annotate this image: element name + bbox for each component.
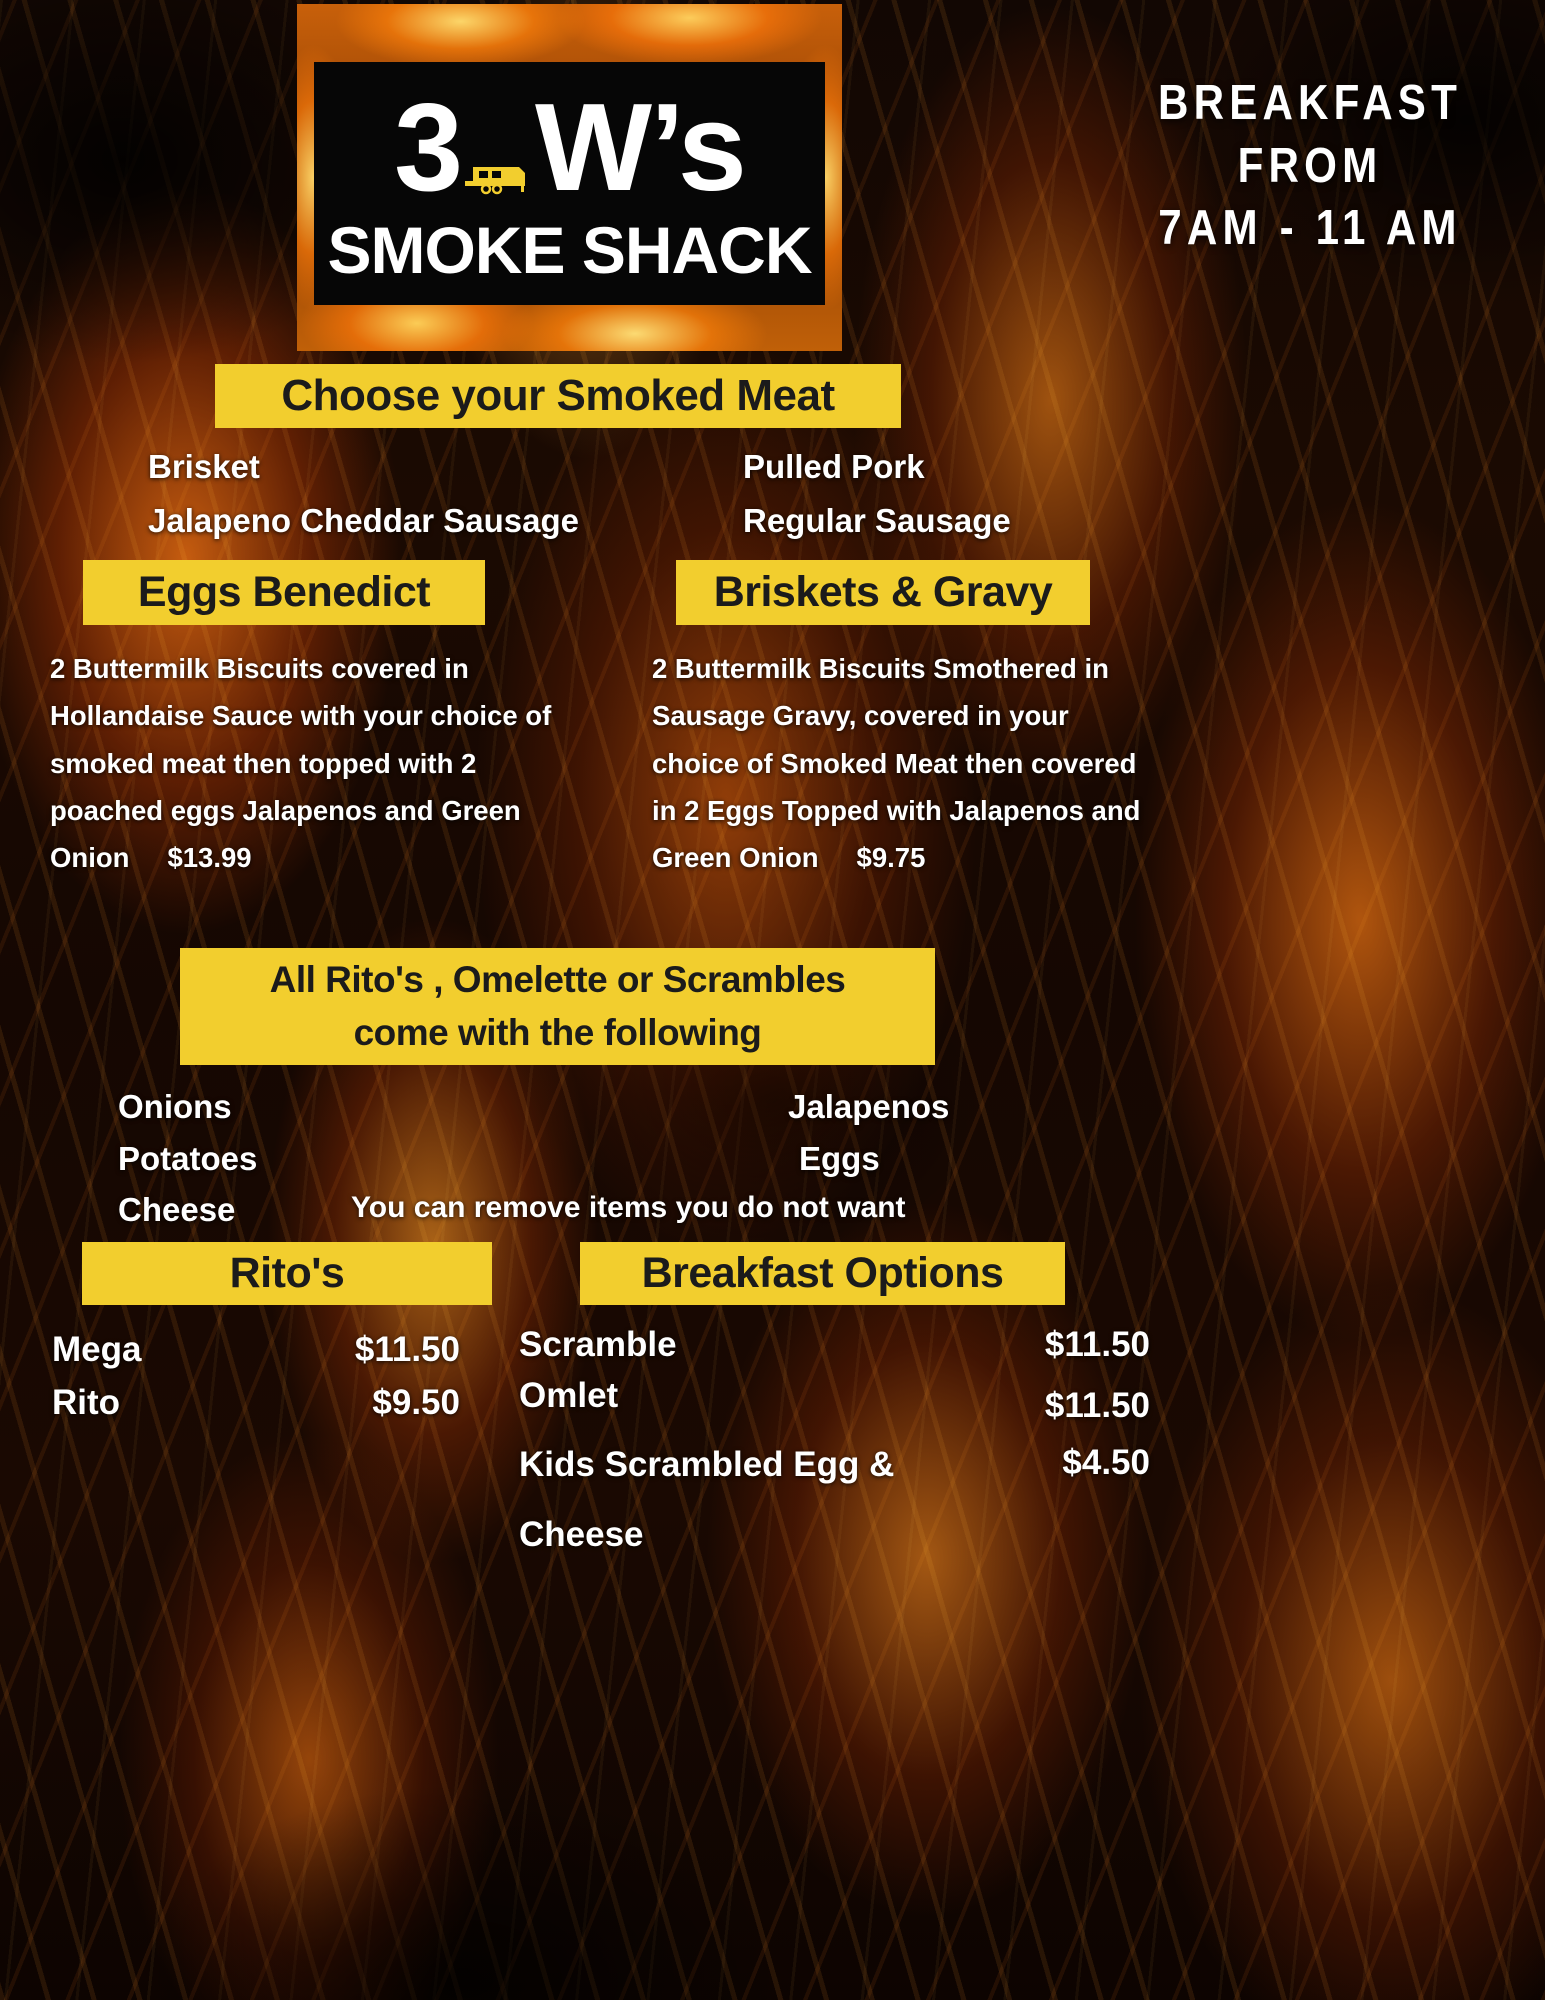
banner-all-ritos-line2: come with the following <box>354 1007 762 1060</box>
hours-line-3: 7AM - 11 AM <box>1125 197 1495 260</box>
briskets-gravy-price: $9.75 <box>857 834 926 881</box>
include-item-cheese: Cheese <box>118 1191 235 1229</box>
meat-option-regular-sausage-label: Regular Sausage <box>743 502 1011 539</box>
include-item-cheese-label: Cheese <box>118 1191 235 1228</box>
include-item-jalapenos-label: Jalapenos <box>788 1088 949 1125</box>
breakfast-option-scramble-price: $11.50 <box>960 1325 1150 1365</box>
ritos-item-rito-price: $9.50 <box>278 1383 460 1423</box>
menu-poster: 3 W’s <box>0 0 1545 2000</box>
breakfast-option-scramble-name: Scramble <box>519 1325 677 1365</box>
logo-numeral: 3 <box>394 91 461 205</box>
breakfast-option-omlet-price-label: $11.50 <box>1045 1386 1150 1425</box>
hours-line-1: BREAKFAST <box>1125 72 1495 135</box>
include-item-onions: Onions <box>118 1088 232 1126</box>
briskets-gravy-description: 2 Buttermilk Biscuits Smothered in Sausa… <box>652 645 1152 881</box>
logo-initials: W’s <box>535 91 745 205</box>
include-item-onions-label: Onions <box>118 1088 232 1125</box>
meat-option-pulled-pork-label: Pulled Pork <box>743 448 925 485</box>
breakfast-option-kids-price-label: $4.50 <box>1062 1443 1150 1482</box>
logo-title-line1: 3 W’s <box>394 84 745 212</box>
meat-option-brisket: Brisket <box>148 448 260 486</box>
ritos-item-mega-price-label: $11.50 <box>355 1330 460 1369</box>
ritos-item-mega-label: Mega <box>52 1330 141 1369</box>
includes-remove-note: You can remove items you do not want <box>351 1191 906 1225</box>
breakfast-option-omlet-price: $11.50 <box>960 1386 1150 1426</box>
include-item-eggs-label: Eggs <box>799 1140 880 1177</box>
trailer-icon <box>463 98 533 212</box>
banner-eggs-benedict: Eggs Benedict <box>83 560 485 625</box>
breakfast-option-kids-label: Kids Scrambled Egg & Cheese <box>519 1445 894 1554</box>
banner-all-ritos-line1: All Rito's , Omelette or Scrambles <box>270 954 846 1007</box>
eggs-benedict-description-text: 2 Buttermilk Biscuits covered in Holland… <box>50 653 551 873</box>
logo-panel: 3 W’s <box>314 62 825 305</box>
meat-option-regular-sausage: Regular Sausage <box>743 502 1011 540</box>
banner-choose-smoked-meat-label: Choose your Smoked Meat <box>281 371 834 421</box>
include-item-eggs: Eggs <box>799 1140 880 1178</box>
banner-briskets-and-gravy-label: Briskets & Gravy <box>714 568 1053 617</box>
meat-option-jalapeno-cheddar-sausage-label: Jalapeno Cheddar Sausage <box>148 502 579 539</box>
banner-ritos: Rito's <box>82 1242 492 1305</box>
ritos-item-rito-price-label: $9.50 <box>372 1383 460 1422</box>
banner-briskets-and-gravy: Briskets & Gravy <box>676 560 1090 625</box>
include-item-potatoes: Potatoes <box>118 1140 257 1178</box>
includes-remove-note-label: You can remove items you do not want <box>351 1191 906 1224</box>
breakfast-hours: BREAKFAST FROM 7AM - 11 AM <box>1125 72 1495 260</box>
include-item-jalapenos: Jalapenos <box>788 1088 949 1126</box>
banner-breakfast-options-label: Breakfast Options <box>642 1249 1004 1298</box>
banner-ritos-label: Rito's <box>230 1249 345 1298</box>
banner-eggs-benedict-label: Eggs Benedict <box>138 568 430 617</box>
ritos-item-rito-name: Rito <box>52 1383 120 1423</box>
ritos-item-mega-price: $11.50 <box>278 1330 460 1370</box>
ritos-item-rito-label: Rito <box>52 1383 120 1422</box>
ritos-item-mega-name: Mega <box>52 1330 141 1370</box>
breakfast-option-scramble-price-label: $11.50 <box>1045 1325 1150 1364</box>
banner-breakfast-options: Breakfast Options <box>580 1242 1065 1305</box>
breakfast-option-scramble-label: Scramble <box>519 1325 677 1364</box>
meat-option-pulled-pork: Pulled Pork <box>743 448 925 486</box>
breakfast-option-kids-price: $4.50 <box>960 1443 1150 1483</box>
meat-option-brisket-label: Brisket <box>148 448 260 485</box>
include-item-potatoes-label: Potatoes <box>118 1140 257 1177</box>
brand-logo: 3 W’s <box>297 4 842 351</box>
logo-title-line2: SMOKE SHACK <box>327 217 811 283</box>
banner-all-ritos-includes: All Rito's , Omelette or Scrambles come … <box>180 948 935 1065</box>
breakfast-option-omlet-label: Omlet <box>519 1376 618 1415</box>
eggs-benedict-description: 2 Buttermilk Biscuits covered in Holland… <box>50 645 595 881</box>
banner-choose-smoked-meat: Choose your Smoked Meat <box>215 364 901 428</box>
eggs-benedict-price: $13.99 <box>167 834 251 881</box>
meat-option-jalapeno-cheddar-sausage: Jalapeno Cheddar Sausage <box>148 502 579 540</box>
breakfast-option-omlet-name: Omlet <box>519 1376 618 1416</box>
hours-line-2: FROM <box>1125 135 1495 198</box>
breakfast-option-kids-name: Kids Scrambled Egg & Cheese <box>519 1430 949 1570</box>
